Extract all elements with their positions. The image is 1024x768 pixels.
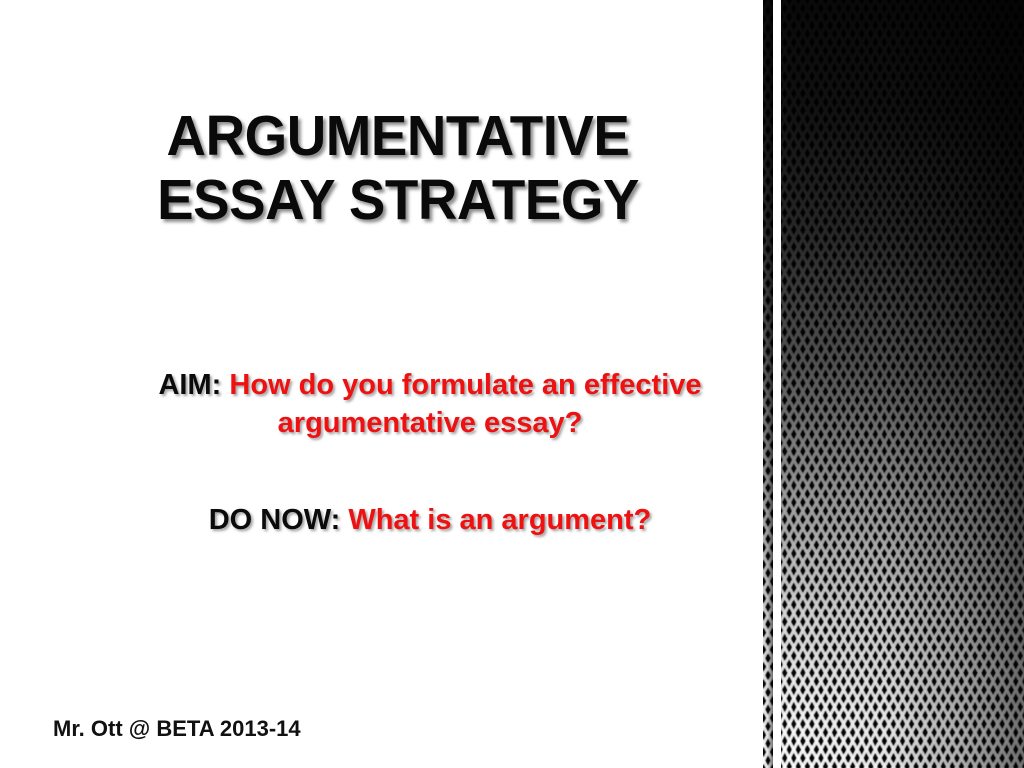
mesh-decorative-panel <box>781 0 1024 768</box>
slide-title-line-1: ARGUMENTATIVE <box>108 104 688 168</box>
aim-question: How do you formulate an effective argume… <box>229 369 701 439</box>
aim-label: AIM: <box>158 369 221 401</box>
mesh-stripe-highlight <box>763 0 773 768</box>
slide-title: ARGUMENTATIVE ESSAY STRATEGY <box>108 104 688 232</box>
slide-title-line-2: ESSAY STRATEGY <box>108 168 688 232</box>
do-now-question: What is an argument? <box>348 504 651 536</box>
mesh-panel-highlight <box>781 0 1024 768</box>
mesh-accent-stripe <box>763 0 773 768</box>
do-now-block: DO NOW: What is an argument? <box>120 501 740 539</box>
slide-canvas: ARGUMENTATIVE ESSAY STRATEGY AIM: How do… <box>0 0 1024 768</box>
aim-block: AIM: How do you formulate an effective a… <box>120 366 740 442</box>
do-now-label: DO NOW: <box>209 504 341 536</box>
slide-footer-credit: Mr. Ott @ BETA 2013-14 <box>53 716 301 742</box>
